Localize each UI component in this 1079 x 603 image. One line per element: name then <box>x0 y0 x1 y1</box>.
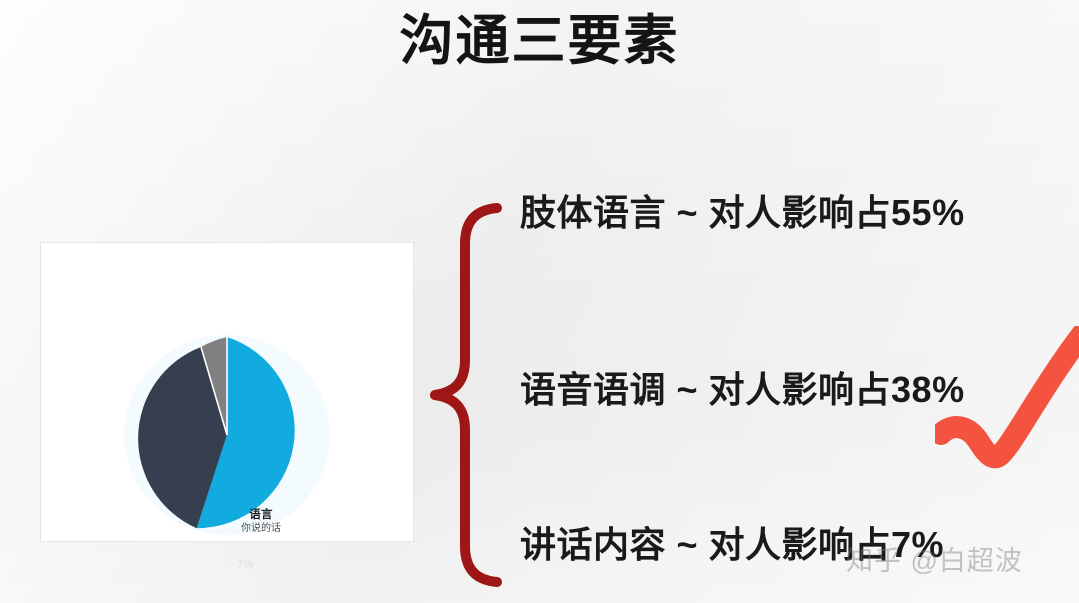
pie-chart-svg <box>41 243 413 541</box>
red-curly-brace-icon <box>423 200 519 590</box>
pie-label-words: 语言 你说的话 <box>191 509 331 534</box>
page-title: 沟通三要素 <box>0 2 1079 80</box>
bullet-line-1: 肢体语言 ~ 对人影响占55% <box>520 190 1065 236</box>
pie-chart: 语言 你说的话 语音语调 声音,停顿 语调,情绪 视觉 眼神接触, 面部表情, … <box>41 243 413 541</box>
bullet-line-2: 语音语调 ~ 对人影响占38% <box>520 367 1065 413</box>
pie-label-words-sub: 你说的话 <box>191 523 331 535</box>
watermark: 知乎 @白超波 <box>846 541 1023 581</box>
pie-chart-card: 语言 你说的话 语音语调 声音,停顿 语调,情绪 视觉 眼神接触, 面部表情, … <box>41 243 413 541</box>
pie-percent-words: 7% <box>237 559 254 571</box>
slide-canvas: 沟通三要素 <box>0 0 1079 603</box>
pie-label-words-title: 语言 <box>191 509 331 523</box>
